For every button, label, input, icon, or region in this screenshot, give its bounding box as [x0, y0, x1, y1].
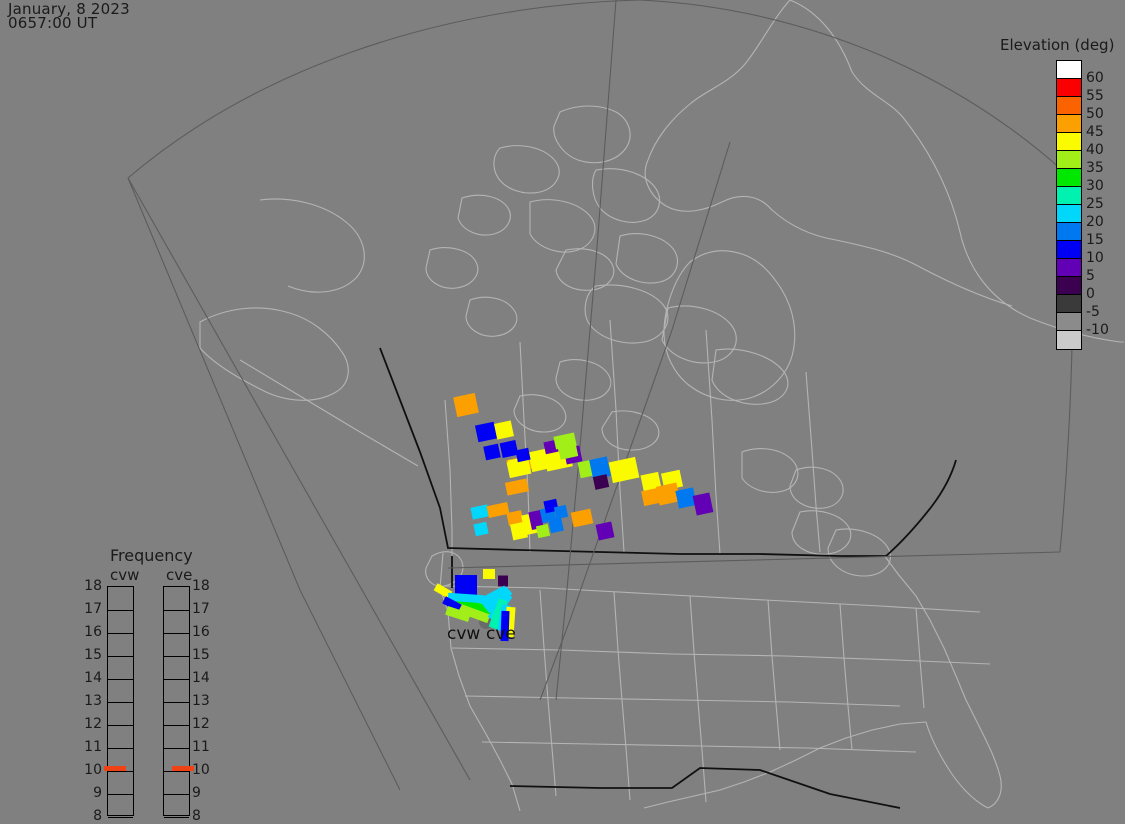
frequency-tick-label-right: 15 [192, 648, 214, 662]
elevation-color-cell [1057, 97, 1081, 115]
frequency-tick-label-right: 14 [192, 671, 214, 685]
frequency-tick-line [108, 725, 133, 726]
frequency-tick-label-right: 11 [192, 740, 214, 754]
frequency-tick-line [164, 817, 189, 818]
frequency-tick-label-right: 10 [192, 763, 214, 777]
elevation-tick-label: 15 [1086, 233, 1104, 247]
elevation-tick-label: 5 [1086, 269, 1095, 283]
frequency-tick-label-right: 13 [192, 694, 214, 708]
elevation-color-cell [1057, 331, 1081, 349]
elevation-tick-label: -10 [1086, 323, 1109, 337]
frequency-tick-line [108, 771, 133, 772]
radar-map-figure: January, 8 2023 0657:00 UT cvw cve Eleva… [0, 0, 1125, 811]
frequency-tick-line [108, 702, 133, 703]
elevation-tick-label: 30 [1086, 179, 1104, 193]
elevation-tick-label: 40 [1086, 143, 1104, 157]
elevation-color-cell [1057, 259, 1081, 277]
elevation-color-cell [1057, 313, 1081, 331]
radar-data-cell [483, 569, 495, 579]
frequency-tick-line [108, 817, 133, 818]
elevation-color-cell [1057, 223, 1081, 241]
elevation-color-cell [1057, 205, 1081, 223]
frequency-legend-title: Frequency [110, 548, 193, 564]
radar-data-cell [455, 575, 477, 595]
elevation-tick-label: 50 [1086, 107, 1104, 121]
elevation-tick-label: 60 [1086, 71, 1104, 85]
elevation-legend-title: Elevation (deg) [1000, 38, 1114, 53]
frequency-tick-line [108, 656, 133, 657]
frequency-tick-label-right: 8 [192, 809, 214, 823]
elevation-color-cell [1057, 133, 1081, 151]
frequency-column-header-cvw: cvw [110, 568, 139, 583]
elevation-tick-label: 35 [1086, 161, 1104, 175]
elevation-tick-label: -5 [1086, 305, 1100, 319]
frequency-tick-line [108, 679, 133, 680]
elevation-tick-label: 25 [1086, 197, 1104, 211]
elevation-legend: Elevation (deg) 605550454035302520151050… [1000, 38, 1125, 358]
time-label: 0657:00 UT [8, 16, 97, 31]
frequency-tick-label-right: 9 [192, 786, 214, 800]
frequency-tick-label-left: 10 [80, 763, 102, 777]
frequency-tick-line [164, 748, 189, 749]
frequency-tick-line [164, 702, 189, 703]
frequency-tick-label-left: 16 [80, 625, 102, 639]
radar-label-cvw: cvw [447, 626, 480, 643]
frequency-tick-line [108, 610, 133, 611]
radar-label-cve: cve [486, 626, 516, 643]
frequency-tick-line [108, 794, 133, 795]
frequency-legend: Frequency cvw cve 18171615141312111098 1… [88, 548, 238, 788]
frequency-tick-label-left: 8 [80, 809, 102, 823]
frequency-tick-line [108, 633, 133, 634]
frequency-tick-line [164, 794, 189, 795]
frequency-tick-label-left: 11 [80, 740, 102, 754]
frequency-tick-label-left: 9 [80, 786, 102, 800]
elevation-color-cell [1057, 61, 1081, 79]
frequency-tick-label-right: 18 [192, 579, 214, 593]
radar-data-cell [536, 524, 550, 538]
elevation-color-cell [1057, 151, 1081, 169]
frequency-highlight-cve [172, 766, 194, 771]
frequency-tick-line [164, 656, 189, 657]
frequency-column-header-cve: cve [166, 568, 192, 583]
frequency-tick-label-left: 12 [80, 717, 102, 731]
elevation-color-cell [1057, 187, 1081, 205]
frequency-tick-line [164, 610, 189, 611]
frequency-tick-line [108, 748, 133, 749]
elevation-tick-label: 10 [1086, 251, 1104, 265]
elevation-color-cell [1057, 169, 1081, 187]
radar-data-cell [498, 576, 508, 587]
radar-data-cell [596, 522, 615, 541]
frequency-tick-label-left: 13 [80, 694, 102, 708]
frequency-tick-label-right: 16 [192, 625, 214, 639]
elevation-color-cell [1057, 295, 1081, 313]
elevation-color-cell [1057, 241, 1081, 259]
frequency-tick-line [164, 633, 189, 634]
elevation-tick-label: 20 [1086, 215, 1104, 229]
frequency-bar-cve [163, 586, 190, 816]
frequency-bar-cvw [107, 586, 134, 816]
frequency-tick-label-right: 17 [192, 602, 214, 616]
elevation-color-cell [1057, 277, 1081, 295]
frequency-tick-label-left: 18 [80, 579, 102, 593]
radar-data-cell [554, 505, 568, 519]
frequency-tick-label-left: 14 [80, 671, 102, 685]
elevation-tick-label: 45 [1086, 125, 1104, 139]
frequency-highlight-cvw [104, 766, 126, 771]
elevation-colorbar [1056, 60, 1082, 350]
elevation-tick-label: 0 [1086, 287, 1095, 301]
elevation-tick-label: 55 [1086, 89, 1104, 103]
frequency-tick-line [164, 771, 189, 772]
frequency-tick-line [164, 679, 189, 680]
elevation-color-cell [1057, 79, 1081, 97]
frequency-tick-label-left: 15 [80, 648, 102, 662]
frequency-tick-label-right: 12 [192, 717, 214, 731]
frequency-tick-label-left: 17 [80, 602, 102, 616]
frequency-tick-line [164, 725, 189, 726]
elevation-color-cell [1057, 115, 1081, 133]
